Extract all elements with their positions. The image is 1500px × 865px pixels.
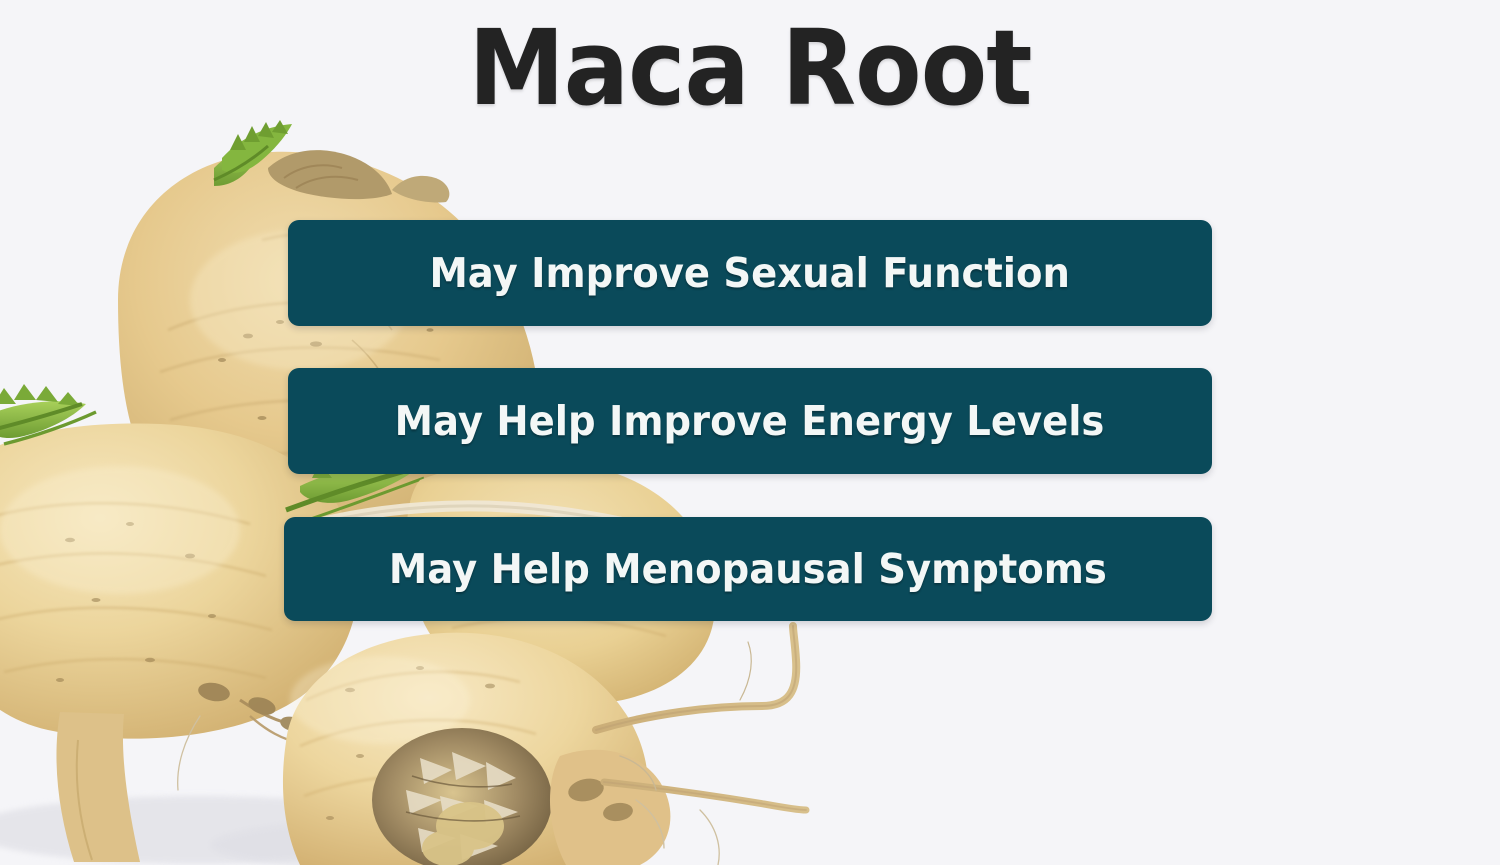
benefit-label: May Help Menopausal Symptoms — [389, 545, 1107, 593]
benefit-banner-1: May Improve Sexual Function — [288, 220, 1212, 326]
infographic-canvas: Maca Root May Improve Sexual Function Ma… — [0, 0, 1500, 865]
benefit-label: May Improve Sexual Function — [430, 249, 1070, 297]
benefit-label: May Help Improve Energy Levels — [395, 397, 1105, 445]
benefit-banner-2: May Help Improve Energy Levels — [288, 368, 1212, 474]
benefit-banner-3: May Help Menopausal Symptoms — [284, 517, 1212, 621]
benefit-list: May Improve Sexual Function May Help Imp… — [0, 0, 1500, 865]
